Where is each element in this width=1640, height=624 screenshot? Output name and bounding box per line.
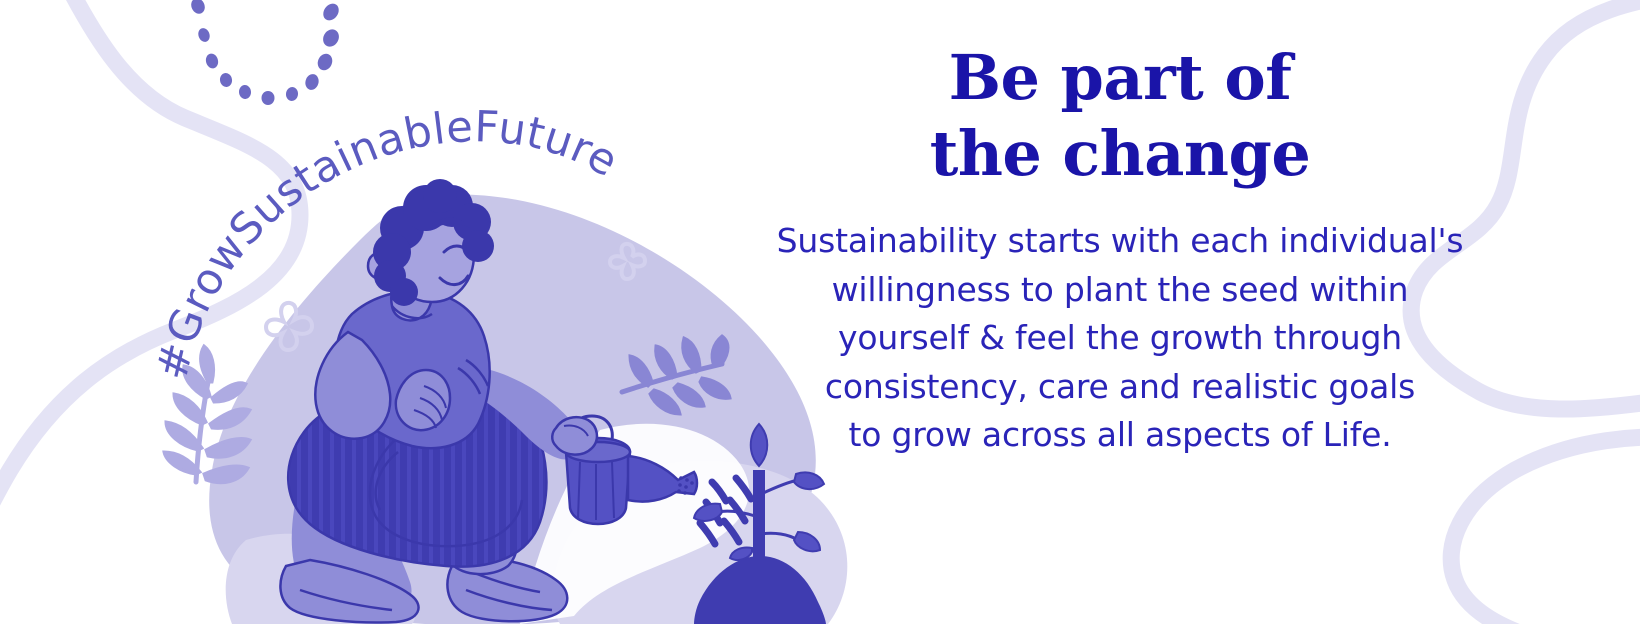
watering-can-icon xyxy=(566,416,697,524)
body-line-4: consistency, care and realistic goals xyxy=(700,363,1540,412)
body-line-5: to grow across all aspects of Life. xyxy=(700,411,1540,460)
dotted-arc xyxy=(189,0,342,105)
hashtag-text: #GrowSustainableFuture xyxy=(150,110,626,385)
wave-line-right-bottom xyxy=(1451,437,1640,624)
headline-line-1: Be part of xyxy=(700,40,1540,116)
body-line-3: yourself & feel the growth through xyxy=(700,314,1540,363)
body-line-1: Sustainability starts with each individu… xyxy=(700,217,1540,266)
figure-back-leg xyxy=(292,480,412,616)
hashtag-badge: #GrowSustainableFuture xyxy=(150,110,710,410)
page-title: Be part of the change xyxy=(700,40,1540,191)
water-droplets xyxy=(700,478,751,544)
soil-mound xyxy=(694,556,826,624)
sustainability-banner: #GrowSustainableFuture Be part of the ch… xyxy=(0,0,1640,624)
headline-line-2: the change xyxy=(700,116,1540,192)
body-line-2: willingness to plant the seed within xyxy=(700,266,1540,315)
body-text: Sustainability starts with each individu… xyxy=(700,217,1540,460)
blob-bottom-left xyxy=(226,534,415,624)
figure-ankle-cuff xyxy=(446,521,517,574)
figure-back-shoe xyxy=(280,560,418,622)
figure-front-shoe xyxy=(447,558,567,622)
copy-block: Be part of the change Sustainability sta… xyxy=(700,40,1540,460)
figure-far-hand xyxy=(552,417,597,454)
blob-light-lower xyxy=(553,461,848,624)
